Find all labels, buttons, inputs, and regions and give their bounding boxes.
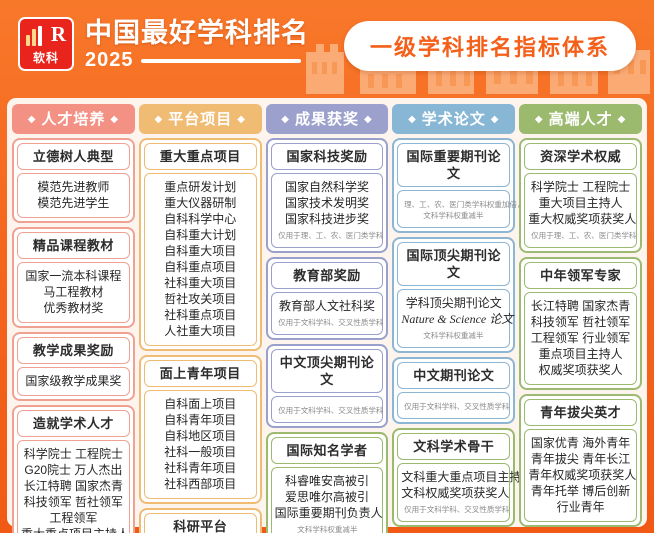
indicator-subtitle-label: 科研平台 xyxy=(147,518,254,533)
diamond-icon: ◆ xyxy=(281,114,290,125)
brand-logo: R 软科 中国最好学科排名 2025 xyxy=(18,17,309,72)
indicator-subtitle-label: 中文期刊论文 xyxy=(400,367,507,384)
indicator-group[interactable]: 中年领军专家长江特聘 国家杰青科技领军 哲社领军工程领军 行业领军重点项目主持人… xyxy=(519,257,642,390)
indicator-item: 人社重大项目 xyxy=(148,323,253,339)
indicator-subtitle[interactable]: 中年领军专家 xyxy=(524,262,637,289)
indicator-detail-box: 科学院士 工程院士重大项目主持人重大权威奖项获奖人仅用于理、工、农、医门类学科 xyxy=(524,173,637,248)
indicator-subtitle[interactable]: 教学成果奖励 xyxy=(17,337,130,364)
indicator-group[interactable]: 立德树人典型模范先进教师模范先进学生 xyxy=(12,138,135,223)
indicator-detail-box: 国家优青 海外青年青年拔尖 青年长江青年权威奖项获奖人青年托举 博后创新行业青年 xyxy=(524,429,637,522)
indicator-item: 爱思唯尔高被引 xyxy=(275,489,380,505)
indicator-subtitle[interactable]: 立德树人典型 xyxy=(17,143,130,170)
indicator-item: 重大重点项目主持人 xyxy=(21,526,126,533)
indicator-item: 重大仪器研制 xyxy=(148,195,253,211)
indicator-board: ◆人才培养◆立德树人典型模范先进教师模范先进学生精品课程教材国家一流本科课程马工… xyxy=(7,98,647,527)
title-block: 中国最好学科排名 2025 xyxy=(85,17,309,72)
column-header-platform-projects[interactable]: ◆平台项目◆ xyxy=(139,104,262,134)
footnote: 仅用于文科学科、交叉性质学科 xyxy=(405,504,504,514)
diamond-icon: ◆ xyxy=(618,114,627,125)
diamond-icon: ◆ xyxy=(408,114,417,125)
footnote: 理、工、农、医门类学科权重加倍， xyxy=(405,199,504,209)
indicator-group[interactable]: 国际顶尖期刊论文学科顶尖期刊论文Nature & Science 论文文科学科权… xyxy=(392,237,515,353)
indicator-item: 青年拔尖 青年长江 xyxy=(528,451,633,467)
indicator-group[interactable]: 中文顶尖期刊论文仅用于文科学科、交叉性质学科 xyxy=(266,344,389,428)
indicator-detail-box: 仅用于文科学科、交叉性质学科 xyxy=(397,392,510,419)
column-header-talent-cultivation[interactable]: ◆人才培养◆ xyxy=(12,104,135,134)
column-title: 成果获奖 xyxy=(295,111,359,128)
indicator-item: 国家技术发明奖 xyxy=(275,195,380,211)
indicator-item: 模范先进教师 xyxy=(21,179,126,195)
bottom-green-group-right[interactable]: 文科学术骨干文科重大重点项目主持人文科权威奖项获奖人仅用于文科学科、交叉性质学科 xyxy=(392,428,515,527)
indicator-subtitle-label: 国际顶尖期刊论文 xyxy=(400,247,507,281)
indicator-item: G20院士 万人杰出 xyxy=(21,462,126,478)
indicator-item: 科技领军 哲社领军 xyxy=(528,314,633,330)
indicator-column-achievement-awards: ◆成果获奖◆国家科技奖励国家自然科学奖国家技术发明奖国家科技进步奖仅用于理、工、… xyxy=(266,104,389,522)
indicator-item: 模范先进学生 xyxy=(21,195,126,211)
indicator-subtitle-label: 教学成果奖励 xyxy=(20,342,127,359)
indicator-group[interactable]: 国家科技奖励国家自然科学奖国家技术发明奖国家科技进步奖仅用于理、工、农、医门类学… xyxy=(266,138,389,253)
subtitle-pill: 一级学科排名指标体系 xyxy=(344,21,636,71)
indicator-item: 重点研发计划 xyxy=(148,179,253,195)
indicator-item: 自科青年项目 xyxy=(148,412,253,428)
diamond-icon: ◆ xyxy=(110,114,119,125)
indicator-item: 文科权威奖项获奖人 xyxy=(401,485,506,501)
indicator-subtitle[interactable]: 国际重要期刊论文 xyxy=(397,143,510,187)
indicator-item: 重大项目主持人 xyxy=(528,195,633,211)
indicator-subtitle-label: 国际重要期刊论文 xyxy=(400,148,507,182)
indicator-group[interactable]: 教育部奖励教育部人文社科奖仅用于文科学科、交叉性质学科 xyxy=(266,257,389,340)
indicator-group[interactable]: 重大重点项目重点研发计划重大仪器研制自科科学中心自科重大计划自科重大项目自科重点… xyxy=(139,138,262,351)
indicator-detail-box: 国家级教学成果奖 xyxy=(17,367,130,396)
indicator-item: 优秀教材奖 xyxy=(21,300,126,316)
indicator-group[interactable]: 资深学术权威科学院士 工程院士重大项目主持人重大权威奖项获奖人仅用于理、工、农、… xyxy=(519,138,642,253)
indicator-group[interactable]: 精品课程教材国家一流本科课程马工程教材优秀教材奖 xyxy=(12,227,135,328)
indicator-subtitle[interactable]: 重大重点项目 xyxy=(144,143,257,170)
indicator-detail-box: 自科面上项目自科青年项目自科地区项目社科一般项目社科青年项目社科西部项目 xyxy=(144,390,257,499)
indicator-subtitle[interactable]: 国际顶尖期刊论文 xyxy=(397,242,510,286)
footnote: 文科学科权重减半 xyxy=(278,524,377,533)
indicator-item: 社科一般项目 xyxy=(148,444,253,460)
indicator-subtitle-label: 文科学术骨干 xyxy=(400,438,507,455)
indicator-item: 工程领军 行业领军 xyxy=(528,330,633,346)
indicator-subtitle-label: 教育部奖励 xyxy=(274,267,381,284)
indicator-detail-box: 国家一流本科课程马工程教材优秀教材奖 xyxy=(17,262,130,323)
indicator-item: 权威奖项获奖人 xyxy=(528,362,633,378)
indicator-subtitle[interactable]: 文科学术骨干 xyxy=(397,433,510,460)
bottom-green-group-left[interactable]: 国际知名学者科睿唯安高被引爱思唯尔高被引国际重要期刊负责人文科学科权重减半 xyxy=(266,432,389,533)
indicator-item: 社科重点项目 xyxy=(148,307,253,323)
indicator-column-platform-projects: ◆平台项目◆重大重点项目重点研发计划重大仪器研制自科科学中心自科重大计划自科重大… xyxy=(139,104,262,522)
infographic-page: R 软科 中国最好学科排名 2025 一级学科排名指标体系 ◆人才培养◆立德树人… xyxy=(0,0,654,533)
footnote: 仅用于文科学科、交叉性质学科 xyxy=(405,401,504,411)
indicator-detail-box: 重点研发计划重大仪器研制自科科学中心自科重大计划自科重大项目自科重点项目社科重大… xyxy=(144,173,257,346)
diamond-icon: ◆ xyxy=(535,114,544,125)
indicator-item: 社科重大项目 xyxy=(148,275,253,291)
indicator-item: 自科科学中心 xyxy=(148,211,253,227)
indicator-item: 教育部人文社科奖 xyxy=(275,298,380,314)
diamond-icon: ◆ xyxy=(237,114,246,125)
footnote: 文科学科权重减半 xyxy=(405,330,504,340)
indicator-item: 科学院士 工程院士 xyxy=(528,179,633,195)
indicator-subtitle[interactable]: 国际知名学者 xyxy=(271,437,384,464)
indicator-item: Nature & Science 论文 xyxy=(401,311,506,327)
indicator-item: 马工程教材 xyxy=(21,284,126,300)
footnote: 仅用于文科学科、交叉性质学科 xyxy=(278,405,377,415)
footnote: 仅用于理、工、农、医门类学科 xyxy=(278,230,377,240)
indicator-item: 自科重大计划 xyxy=(148,227,253,243)
logo-brand-name: 软科 xyxy=(20,49,72,66)
indicator-item: 青年托举 博后创新 xyxy=(528,483,633,499)
indicator-subtitle[interactable]: 面上青年项目 xyxy=(144,360,257,387)
indicator-group[interactable]: 造就学术人才科学院士 工程院士G20院士 万人杰出长江特聘 国家杰青科技领军 哲… xyxy=(12,405,135,533)
column-title: 高端人才 xyxy=(549,111,613,128)
indicator-group[interactable]: 教学成果奖励国家级教学成果奖 xyxy=(12,332,135,401)
column-header-achievement-awards[interactable]: ◆成果获奖◆ xyxy=(266,104,389,134)
column-header-high-end-talent[interactable]: ◆高端人才◆ xyxy=(519,104,642,134)
indicator-item: 学科顶尖期刊论文 xyxy=(401,295,506,311)
indicator-column-high-end-talent: ◆高端人才◆资深学术权威科学院士 工程院士重大项目主持人重大权威奖项获奖人仅用于… xyxy=(519,104,642,522)
indicator-detail-box: 科睿唯安高被引爱思唯尔高被引国际重要期刊负责人文科学科权重减半 xyxy=(271,467,384,533)
indicator-item: 国家优青 海外青年 xyxy=(528,435,633,451)
indicator-subtitle-label: 国家科技奖励 xyxy=(274,148,381,165)
indicator-item: 哲社攻关项目 xyxy=(148,291,253,307)
indicator-item: 科学院士 工程院士 xyxy=(21,446,126,462)
indicator-item: 工程领军 xyxy=(21,510,126,526)
footnote: 仅用于文科学科、交叉性质学科 xyxy=(278,317,377,327)
indicator-detail-box: 长江特聘 国家杰青科技领军 哲社领军工程领军 行业领军重点项目主持人权威奖项获奖… xyxy=(524,292,637,385)
indicator-subtitle-label: 资深学术权威 xyxy=(527,148,634,165)
diamond-icon: ◆ xyxy=(28,114,37,125)
indicator-item: 自科重点项目 xyxy=(148,259,253,275)
indicator-subtitle-label: 造就学术人才 xyxy=(20,415,127,432)
indicator-item: 国家自然科学奖 xyxy=(275,179,380,195)
indicator-detail-box: 科学院士 工程院士G20院士 万人杰出长江特聘 国家杰青科技领军 哲社领军工程领… xyxy=(17,440,130,533)
indicator-subtitle-label: 中文顶尖期刊论文 xyxy=(274,354,381,388)
indicator-item: 社科青年项目 xyxy=(148,460,253,476)
shanghairanking-logo-mark: R 软科 xyxy=(18,17,74,71)
subtitle-text: 一级学科排名指标体系 xyxy=(370,35,610,60)
indicator-item: 长江特聘 国家杰青 xyxy=(21,478,126,494)
indicator-column-talent-cultivation: ◆人才培养◆立德树人典型模范先进教师模范先进学生精品课程教材国家一流本科课程马工… xyxy=(12,104,135,522)
indicator-subtitle-label: 面上青年项目 xyxy=(147,365,254,382)
indicator-subtitle[interactable]: 精品课程教材 xyxy=(17,232,130,259)
indicator-item: 自科地区项目 xyxy=(148,428,253,444)
indicator-detail-box: 国家自然科学奖国家技术发明奖国家科技进步奖仅用于理、工、农、医门类学科 xyxy=(271,173,384,248)
indicator-item: 重点项目主持人 xyxy=(528,346,633,362)
indicator-detail-box: 仅用于文科学科、交叉性质学科 xyxy=(271,396,384,423)
indicator-detail-box: 模范先进教师模范先进学生 xyxy=(17,173,130,218)
indicator-columns: ◆人才培养◆立德树人典型模范先进教师模范先进学生精品课程教材国家一流本科课程马工… xyxy=(12,104,642,522)
indicator-group[interactable]: 青年拔尖英才国家优青 海外青年青年拔尖 青年长江青年权威奖项获奖人青年托举 博后… xyxy=(519,394,642,527)
indicator-detail-box: 文科重大重点项目主持人文科权威奖项获奖人仅用于文科学科、交叉性质学科 xyxy=(397,463,510,522)
indicator-group[interactable]: 面上青年项目自科面上项目自科青年项目自科地区项目社科一般项目社科青年项目社科西部… xyxy=(139,355,262,504)
indicator-subtitle-label: 中年领军专家 xyxy=(527,267,634,284)
footnote: 仅用于理、工、农、医门类学科 xyxy=(531,230,630,240)
indicator-subtitle[interactable]: 国家科技奖励 xyxy=(271,143,384,170)
diamond-icon: ◆ xyxy=(154,114,163,125)
indicator-item: 重大权威奖项获奖人 xyxy=(528,211,633,227)
edition-year: 2025 xyxy=(85,49,134,72)
indicator-item: 文科重大重点项目主持人 xyxy=(401,469,506,485)
indicator-item: 青年权威奖项获奖人 xyxy=(528,467,633,483)
indicator-item: 国家科技进步奖 xyxy=(275,211,380,227)
indicator-group[interactable]: 国际重要期刊论文理、工、农、医门类学科权重加倍，文科学科权重减半 xyxy=(392,138,515,233)
indicator-subtitle[interactable]: 科研平台 xyxy=(144,513,257,533)
title-year-row: 2025 xyxy=(85,49,309,72)
title-rule xyxy=(141,59,301,63)
indicator-subtitle-label: 立德树人典型 xyxy=(20,148,127,165)
indicator-item: 社科西部项目 xyxy=(148,476,253,492)
indicator-subtitle-label: 国际知名学者 xyxy=(274,442,381,459)
indicator-subtitle[interactable]: 青年拔尖英才 xyxy=(524,399,637,426)
indicator-detail-box: 理、工、农、医门类学科权重加倍，文科学科权重减半 xyxy=(397,190,510,228)
indicator-group[interactable]: 中文期刊论文仅用于文科学科、交叉性质学科 xyxy=(392,357,515,424)
diamond-icon: ◆ xyxy=(491,114,500,125)
logo-letter: R xyxy=(51,24,66,45)
column-title: 人才培养 xyxy=(41,111,105,128)
indicator-item: 行业青年 xyxy=(528,499,633,515)
indicator-subtitle[interactable]: 资深学术权威 xyxy=(524,143,637,170)
indicator-subtitle-label: 精品课程教材 xyxy=(20,237,127,254)
indicator-detail-box: 教育部人文社科奖仅用于文科学科、交叉性质学科 xyxy=(271,292,384,335)
indicator-subtitle[interactable]: 造就学术人才 xyxy=(17,410,130,437)
indicator-detail-box: 学科顶尖期刊论文Nature & Science 论文文科学科权重减半 xyxy=(397,289,510,348)
column-title: 学术论文 xyxy=(422,111,486,128)
indicator-item: 国家一流本科课程 xyxy=(21,268,126,284)
indicator-item: 国家级教学成果奖 xyxy=(21,373,126,389)
column-title: 平台项目 xyxy=(168,111,232,128)
indicator-item: 自科面上项目 xyxy=(148,396,253,412)
footnote: 文科学科权重减半 xyxy=(405,210,504,220)
indicator-item: 科技领军 哲社领军 xyxy=(21,494,126,510)
indicator-item: 国际重要期刊负责人 xyxy=(275,505,380,521)
indicator-subtitle[interactable]: 中文顶尖期刊论文 xyxy=(271,349,384,393)
column-header-academic-papers[interactable]: ◆学术论文◆ xyxy=(392,104,515,134)
indicator-group[interactable]: 科研平台文科学科权重减半 xyxy=(139,508,262,533)
indicator-column-academic-papers: ◆学术论文◆国际重要期刊论文理、工、农、医门类学科权重加倍，文科学科权重减半国际… xyxy=(392,104,515,522)
page-header: R 软科 中国最好学科排名 2025 一级学科排名指标体系 xyxy=(0,0,654,94)
bar-chart-icon xyxy=(26,26,42,46)
indicator-subtitle[interactable]: 中文期刊论文 xyxy=(397,362,510,389)
indicator-subtitle[interactable]: 教育部奖励 xyxy=(271,262,384,289)
page-title: 中国最好学科排名 xyxy=(85,18,309,48)
diamond-icon: ◆ xyxy=(364,114,373,125)
indicator-item: 自科重大项目 xyxy=(148,243,253,259)
indicator-subtitle-label: 重大重点项目 xyxy=(147,148,254,165)
indicator-item: 科睿唯安高被引 xyxy=(275,473,380,489)
indicator-subtitle-label: 青年拔尖英才 xyxy=(527,404,634,421)
indicator-item: 长江特聘 国家杰青 xyxy=(528,298,633,314)
